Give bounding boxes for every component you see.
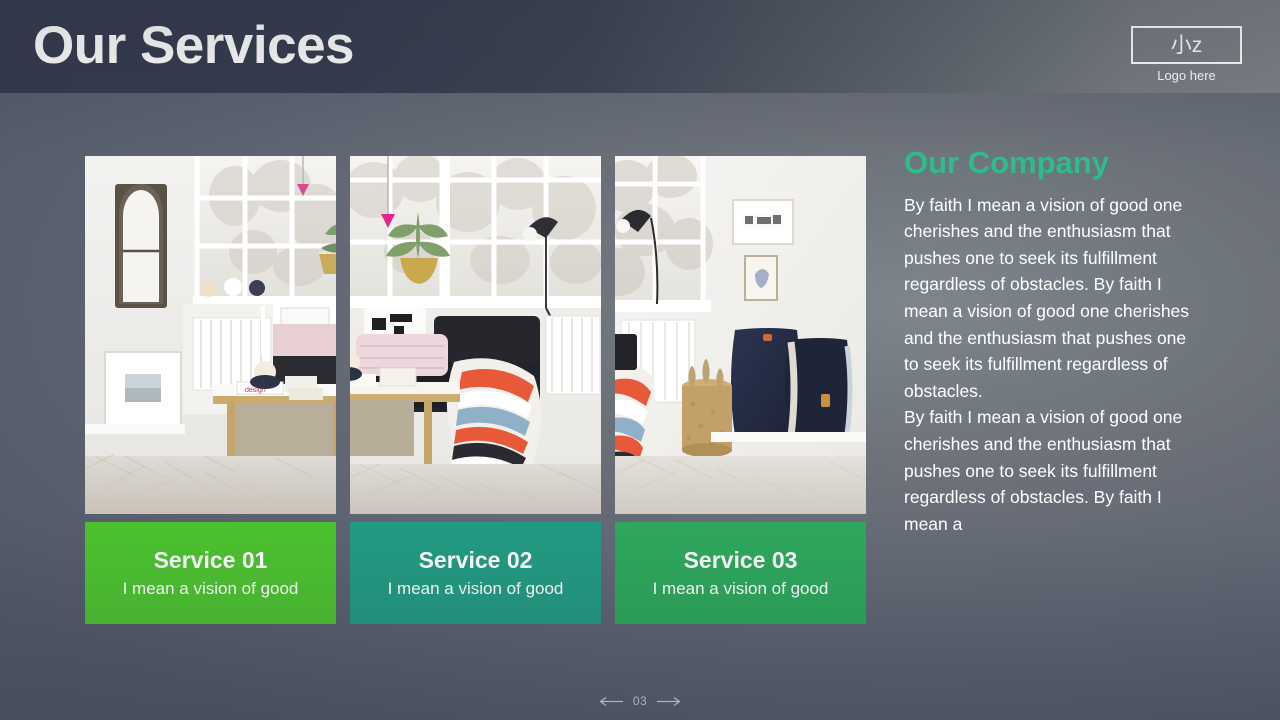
logo-mark-text: 小z [1171, 35, 1203, 56]
prev-arrow-icon[interactable] [598, 696, 624, 707]
company-heading: Our Company [904, 145, 1196, 181]
company-text-column: Our Company By faith I mean a vision of … [904, 145, 1196, 537]
service-subtitle-2: I mean a vision of good [388, 578, 564, 599]
service-card-3[interactable]: Service 03 I mean a vision of good [615, 156, 866, 624]
service-title-2: Service 02 [419, 547, 533, 573]
service-card-2[interactable]: Service 02 I mean a vision of good [350, 156, 601, 624]
logo-placeholder-box[interactable]: 小z [1131, 26, 1242, 64]
service-card-1[interactable]: design Service 01 I mean a vision of goo… [85, 156, 336, 624]
interior-sofa-blanket-illustration [350, 156, 601, 514]
slide-canvas: Our Services 小z Logo here [0, 0, 1280, 720]
interior-cushions-stool-illustration [615, 156, 866, 514]
service-label-1[interactable]: Service 01 I mean a vision of good [85, 522, 336, 624]
service-subtitle-1: I mean a vision of good [123, 578, 299, 599]
service-photo-1: design [85, 156, 336, 514]
service-subtitle-3: I mean a vision of good [653, 578, 829, 599]
slide-header: Our Services 小z Logo here [0, 0, 1280, 93]
service-label-3[interactable]: Service 03 I mean a vision of good [615, 522, 866, 624]
interior-mirror-window-illustration: design [85, 156, 336, 514]
service-title-1: Service 01 [154, 547, 268, 573]
page-title: Our Services [33, 14, 354, 78]
service-label-2[interactable]: Service 02 I mean a vision of good [350, 522, 601, 624]
service-photo-3 [615, 156, 866, 514]
service-photo-2 [350, 156, 601, 514]
services-card-row: design Service 01 I mean a vision of goo… [85, 156, 867, 624]
logo-caption: Logo here [1131, 68, 1242, 83]
service-title-3: Service 03 [684, 547, 798, 573]
next-arrow-icon[interactable] [656, 696, 682, 707]
company-body-text: By faith I mean a vision of good one che… [904, 192, 1196, 538]
logo-block: 小z Logo here [1131, 26, 1242, 83]
slide-pager: 03 [0, 694, 1280, 708]
page-number: 03 [633, 694, 647, 708]
